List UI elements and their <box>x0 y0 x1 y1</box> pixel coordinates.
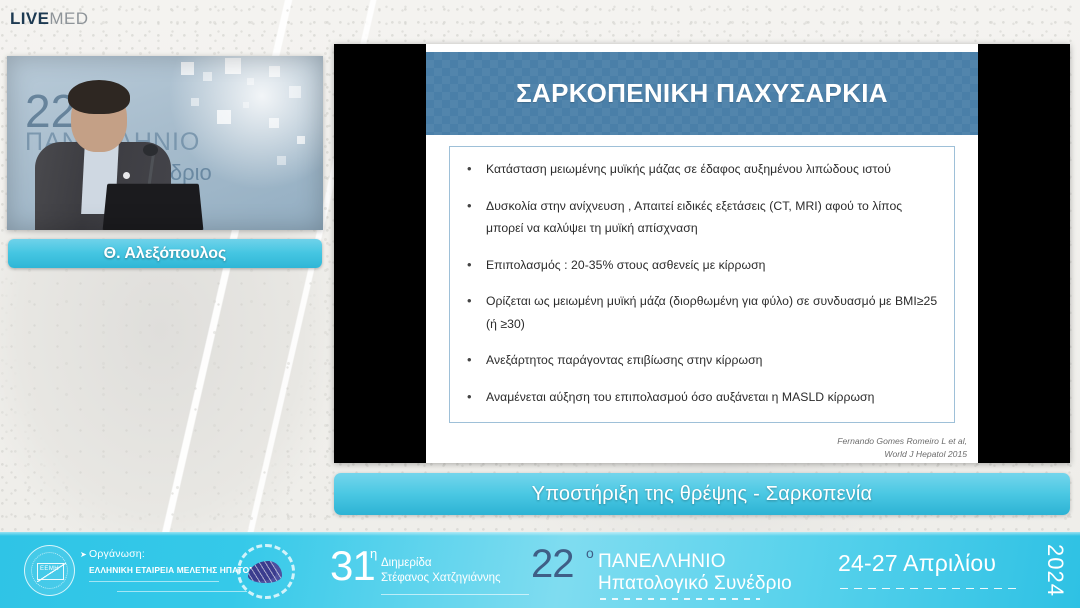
list-item: Αναμένεται αύξηση του επιπολασμού όσο αυ… <box>460 386 940 409</box>
speaker-name-label: Θ. Αλεξόπουλος <box>104 245 227 263</box>
congress-number: 22 <box>531 544 574 584</box>
slide-header-band: ΣΑΡΚΟΠΕΝΙΚΗ ΠΑΧΥΣΑΡΚΙΑ <box>426 52 978 135</box>
logo-med-text: MED <box>49 9 88 28</box>
speaker-name-badge: Θ. Αλεξόπουλος <box>8 239 322 268</box>
congress-year: 2024 <box>1042 544 1068 597</box>
congress-dotted-rule <box>600 598 760 600</box>
list-item: Ανεξάρτητος παράγοντας επιβίωσης στην κί… <box>460 349 940 372</box>
event-name-line-1: Διημερίδα <box>381 557 432 569</box>
liver-emblem-icon <box>237 544 295 599</box>
presentation-slide: ΣΑΡΚΟΠΕΝΙΚΗ ΠΑΧΥΣΑΡΚΙΑ Κατάσταση μειωμέν… <box>426 44 978 463</box>
organizer-label: Οργάνωση: <box>89 548 145 560</box>
session-title-label: Υποστήριξη της θρέψης - Σαρκοπενία <box>532 483 873 506</box>
eemh-seal-logo: ΕΕΜΗ <box>24 545 75 596</box>
organizer-rule-2 <box>117 591 247 592</box>
session-title-banner: Υποστήριξη της θρέψης - Σαρκοπενία <box>334 473 1070 515</box>
list-item: Επιπολασμός : 20-35% στους ασθενείς με κ… <box>460 254 940 277</box>
organizer-rule-1 <box>89 581 219 582</box>
conference-footer: ΕΕΜΗ ➤ Οργάνωση: ΕΛΛΗΝΙΚΗ ΕΤΑΙΡΕΙΑ ΜΕΛΕΤ… <box>0 532 1080 608</box>
speaker-video-panel[interactable]: 22 ΠΑΝΕΛΛΗΝΙΟ υνέδριο <box>7 56 323 230</box>
congress-number-suffix: ο <box>586 545 594 561</box>
congress-dates: 24-27 Απριλίου <box>838 550 996 577</box>
event-number: 31 <box>330 545 375 587</box>
event-name-line-2: Στέφανος Χατζηγιάννης <box>381 572 501 584</box>
event-rule <box>381 594 529 595</box>
list-item: Δυσκολία στην ανίχνευση , Απαιτεί ειδικέ… <box>460 195 940 240</box>
slide-bullet-box: Κατάσταση μειωμένης μυϊκής μάζας σε έδαφ… <box>449 146 955 423</box>
slide-citation: Fernando Gomes Romeiro L et al, World J … <box>757 435 967 460</box>
livemed-logo: LIVEMED <box>10 9 88 29</box>
event-number-suffix: η <box>370 546 377 561</box>
seal-abbreviation: ΕΕΜΗ <box>25 566 74 572</box>
slide-bullet-list: Κατάσταση μειωμένης μυϊκής μάζας σε έδαφ… <box>450 147 954 409</box>
congress-name-line-1: ΠΑΝΕΛΛΗΝΙΟ <box>598 551 726 573</box>
list-item: Κατάσταση μειωμένης μυϊκής μάζας σε έδαφ… <box>460 158 940 181</box>
congress-name-line-2: Ηπατολογικό Συνέδριο <box>598 573 792 595</box>
citation-line-2: World J Hepatol 2015 <box>757 448 967 460</box>
video-vignette <box>7 56 323 230</box>
slide-title: ΣΑΡΚΟΠΕΝΙΚΗ ΠΑΧΥΣΑΡΚΙΑ <box>516 78 888 109</box>
logo-live-text: LIVE <box>10 9 49 28</box>
citation-line-1: Fernando Gomes Romeiro L et al, <box>757 435 967 447</box>
organizer-name: ΕΛΛΗΝΙΚΗ ΕΤΑΙΡΕΙΑ ΜΕΛΕΤΗΣ ΗΠΑΤΟΣ <box>89 565 254 575</box>
list-item: Ορίζεται ως μειωμένη μυϊκή μάζα (διορθωμ… <box>460 290 940 335</box>
arrow-icon: ➤ <box>80 550 87 559</box>
dates-dashed-rule <box>840 588 1020 589</box>
slide-stage[interactable]: ΣΑΡΚΟΠΕΝΙΚΗ ΠΑΧΥΣΑΡΚΙΑ Κατάσταση μειωμέν… <box>334 44 1070 463</box>
